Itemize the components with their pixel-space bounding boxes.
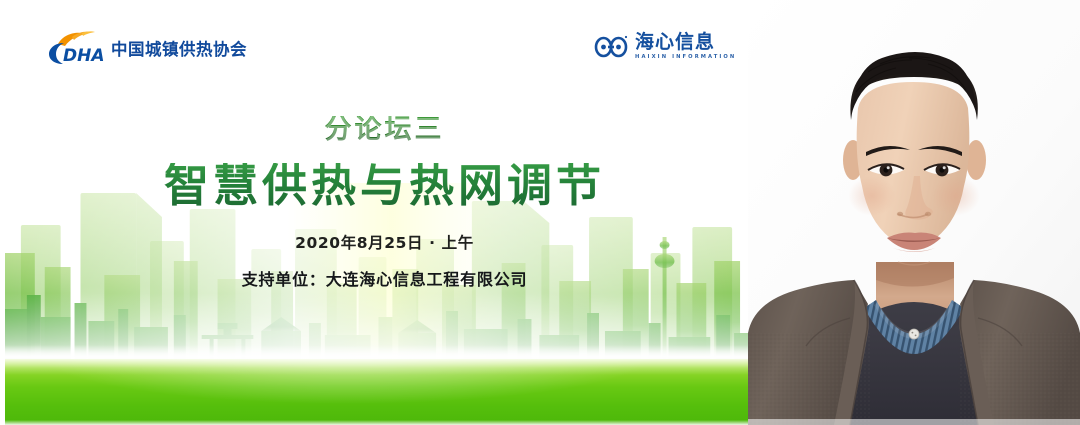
poster-artwork: DHA 中国城镇供热协会 xyxy=(5,4,748,425)
conference-poster: DHA 中国城镇供热协会 xyxy=(0,0,748,425)
cdha-logo-text: 中国城镇供热协会 xyxy=(111,42,247,59)
haixin-logo-icon xyxy=(594,34,628,60)
portrait-photo xyxy=(748,0,1080,425)
poster-and-portrait-banner: DHA 中国城镇供热协会 xyxy=(0,0,1080,425)
sky-background xyxy=(5,4,748,425)
haixin-logo-chinese: 海心信息 xyxy=(635,33,736,52)
haixin-logo: 海心信息 HAIXIN INFORMATION xyxy=(594,33,736,60)
cdha-logo-icon: DHA xyxy=(46,31,108,65)
speaker-portrait xyxy=(748,0,1080,425)
cdha-logo: DHA 中国城镇供热协会 xyxy=(46,31,247,65)
haixin-logo-english: HAIXIN INFORMATION xyxy=(635,55,736,60)
svg-text:DHA: DHA xyxy=(63,46,105,65)
haixin-logo-text-group: 海心信息 HAIXIN INFORMATION xyxy=(635,33,736,60)
